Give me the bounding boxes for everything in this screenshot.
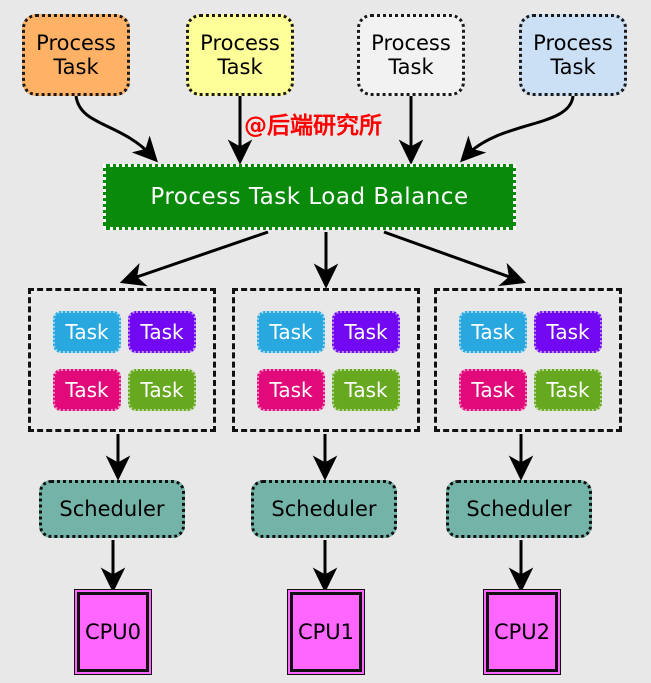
scheduler-box-0[interactable]: Scheduler [39,480,185,538]
task-chip[interactable]: Task [257,369,325,411]
task-group-1: Task Task Task Task [232,288,420,432]
task-chip[interactable]: Task [128,369,196,411]
task-chip-label: Task [344,320,387,344]
scheduler-box-1[interactable]: Scheduler [251,480,397,538]
task-chip[interactable]: Task [459,369,527,411]
diagram-canvas: Process Task Process Task Process Task P… [0,0,651,683]
cpu-box-0[interactable]: CPU0 [77,592,149,672]
task-chip-label: Task [546,378,589,402]
process-task-label-line2: Task [550,55,595,79]
task-chip[interactable]: Task [257,311,325,353]
task-chip[interactable]: Task [332,369,400,411]
scheduler-label: Scheduler [271,497,376,521]
process-task-box-1[interactable]: Process Task [186,14,294,96]
cpu-box-2[interactable]: CPU2 [486,592,558,672]
task-chip[interactable]: Task [332,311,400,353]
task-chip[interactable]: Task [459,311,527,353]
load-balancer-label: Process Task Load Balance [150,184,468,210]
task-chip-label: Task [269,320,312,344]
task-chip[interactable]: Task [128,311,196,353]
process-task-label-line2: Task [217,55,262,79]
task-chip-label: Task [471,320,514,344]
scheduler-label: Scheduler [59,497,164,521]
process-task-label-line1: Process [533,31,613,55]
task-group-0: Task Task Task Task [28,288,216,432]
watermark-text: @后端研究所 [244,106,382,140]
task-chip-label: Task [140,378,183,402]
task-group-2: Task Task Task Task [434,288,622,432]
load-balancer-bar[interactable]: Process Task Load Balance [103,164,516,230]
cpu-box-1[interactable]: CPU1 [290,592,362,672]
task-chip-label: Task [471,378,514,402]
cpu-label: CPU2 [494,620,550,644]
task-chip[interactable]: Task [53,369,121,411]
process-task-label-line1: Process [371,31,451,55]
process-task-label-line1: Process [200,31,280,55]
task-chip[interactable]: Task [534,369,602,411]
task-chip[interactable]: Task [53,311,121,353]
task-chip-label: Task [140,320,183,344]
scheduler-box-2[interactable]: Scheduler [446,480,592,538]
scheduler-label: Scheduler [466,497,571,521]
process-task-box-0[interactable]: Process Task [22,14,130,96]
cpu-label: CPU0 [85,620,141,644]
task-chip-label: Task [65,320,108,344]
process-task-label-line2: Task [53,55,98,79]
process-task-label-line2: Task [388,55,433,79]
process-task-box-3[interactable]: Process Task [519,14,627,96]
cpu-label: CPU1 [298,620,354,644]
task-chip[interactable]: Task [534,311,602,353]
task-chip-label: Task [65,378,108,402]
task-chip-label: Task [344,378,387,402]
process-task-box-2[interactable]: Process Task [357,14,465,96]
process-task-label-line1: Process [36,31,116,55]
task-chip-label: Task [546,320,589,344]
task-chip-label: Task [269,378,312,402]
